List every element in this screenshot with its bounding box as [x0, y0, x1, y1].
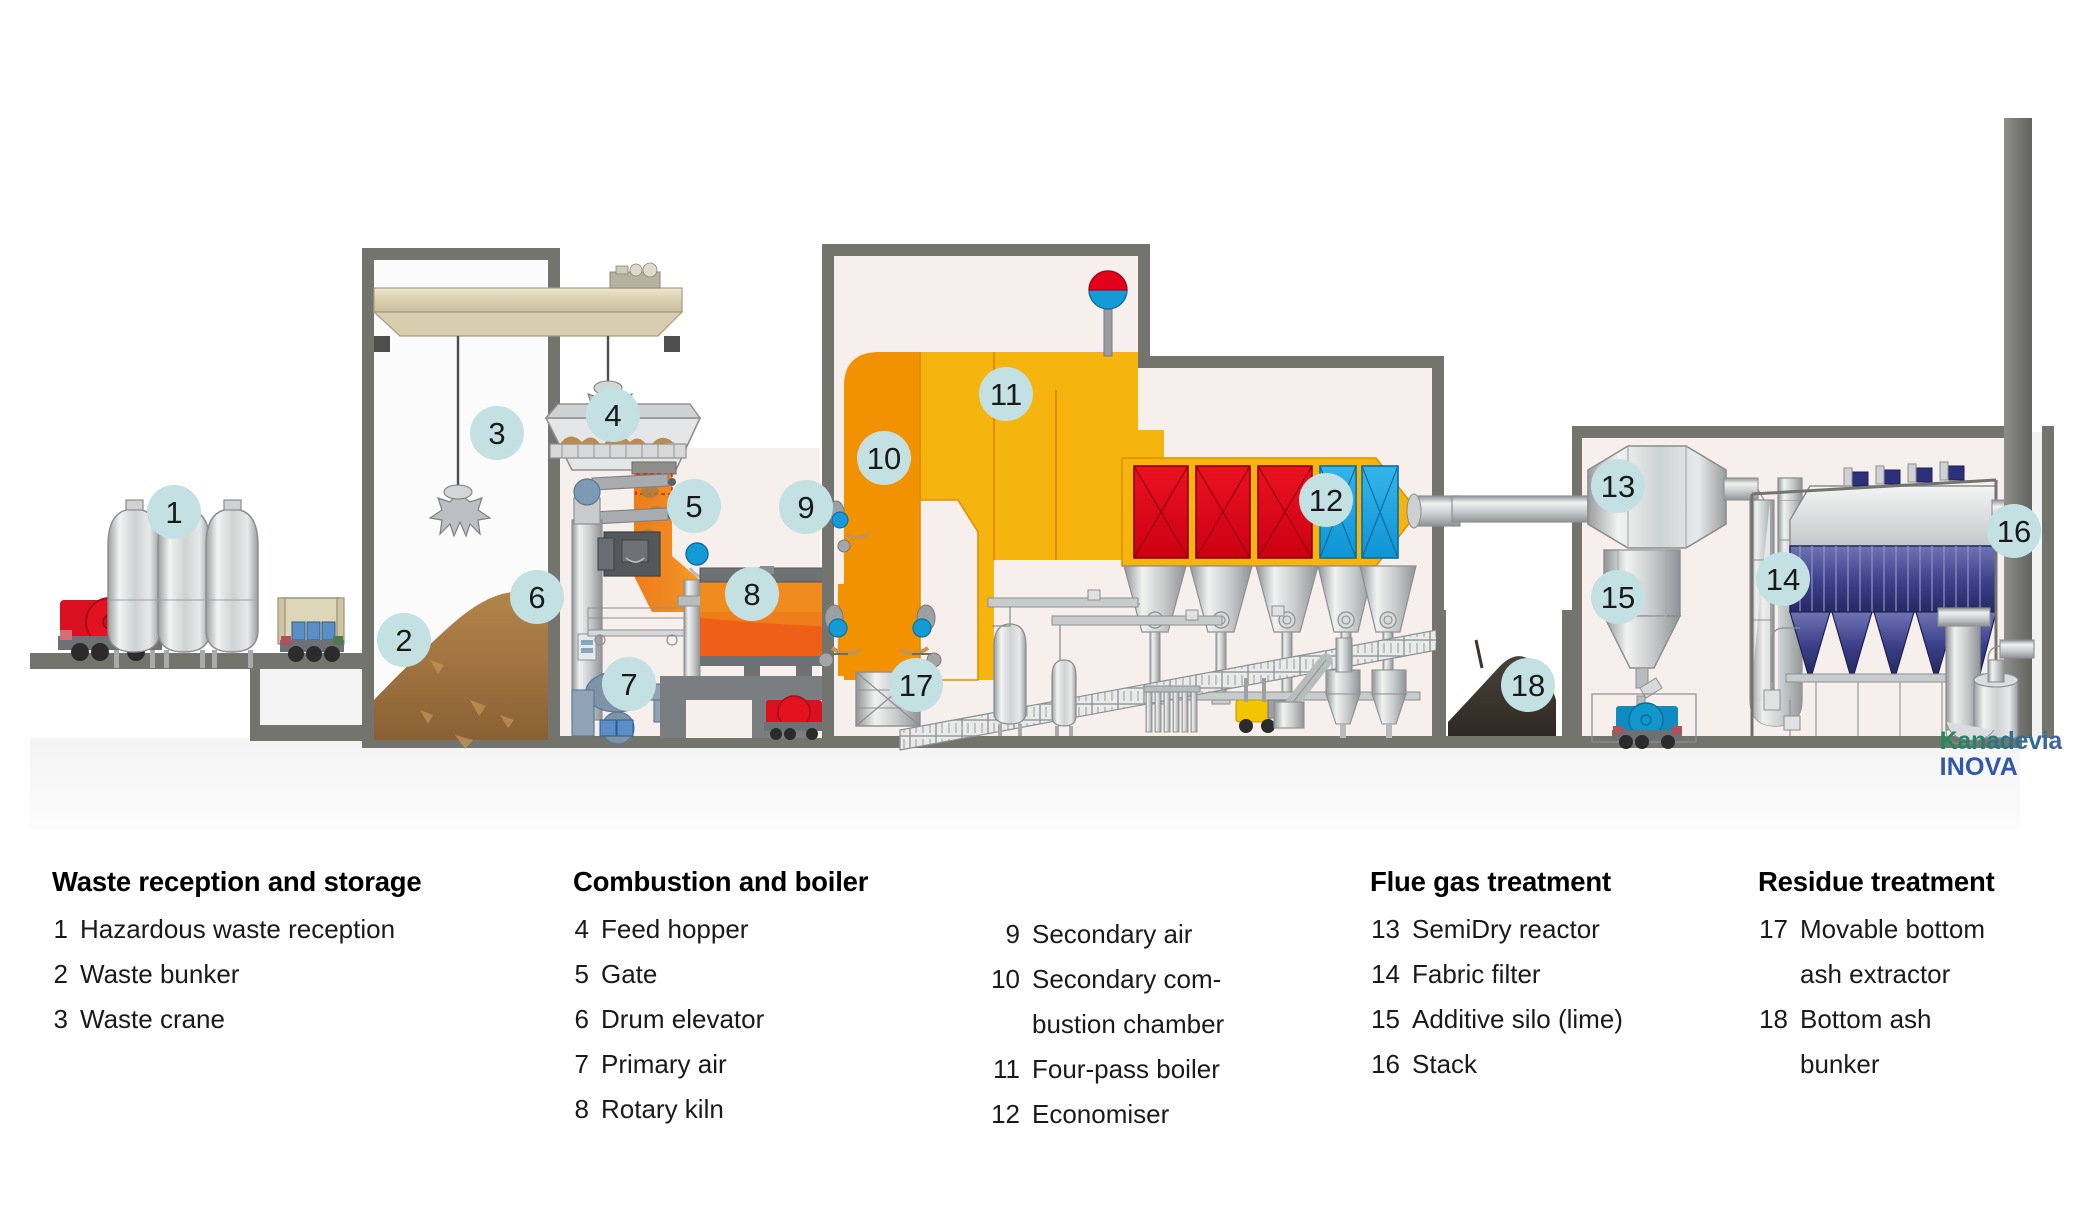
legend-column-waste-reception: Waste reception and storage 1 Hazardous … [52, 866, 422, 1042]
callout-number: 17 [899, 668, 933, 703]
legend-num-7: 7 [573, 1042, 589, 1087]
callout-badge-6[interactable]: 6 [510, 570, 564, 624]
ash-bunker-wall-right [1562, 610, 1572, 736]
legend-item-10: 10 Secondary com- [990, 957, 1224, 1002]
drum-delivery-truck [278, 598, 344, 662]
legend-num-12: 12 [990, 1092, 1020, 1137]
legend-label-18-cont: bunker [1800, 1042, 1880, 1087]
callout-number: 8 [743, 577, 760, 612]
legend-item-2: 2 Waste bunker [52, 952, 422, 997]
plant-schematic-diagram: 123456789101112131415161718 [0, 0, 2100, 830]
legend-label-2: Waste bunker [80, 952, 239, 997]
legend-item-10-cont: bustion chamber [990, 1002, 1224, 1047]
legend-label-10: Secondary com- [1032, 957, 1221, 1002]
callout-number: 12 [1309, 483, 1343, 518]
callout-badge-8[interactable]: 8 [725, 567, 779, 621]
callout-badge-17[interactable]: 17 [889, 658, 943, 712]
page-root: 123456789101112131415161718 Waste recept… [0, 0, 2100, 1213]
callout-number: 14 [1766, 562, 1800, 597]
ash-bunker-wall-left [1436, 610, 1446, 736]
superheater-panels [1134, 466, 1312, 558]
legend-title-residue: Residue treatment [1758, 866, 1995, 898]
callout-badge-10[interactable]: 10 [857, 431, 911, 485]
callout-badge-12[interactable]: 12 [1299, 473, 1353, 527]
callout-number: 6 [528, 580, 545, 615]
legend-item-13: 13 SemiDry reactor [1370, 907, 1623, 952]
legend-label-15: Additive silo (lime) [1412, 997, 1623, 1042]
callout-badge-1[interactable]: 1 [147, 485, 201, 539]
legend-label-5: Gate [601, 952, 657, 997]
storage-tank-3 [206, 500, 258, 668]
logo-line-inova: INOVA [1940, 754, 2062, 780]
callout-number: 3 [488, 416, 505, 451]
callout-number: 5 [685, 489, 702, 524]
legend-column-flue-gas: Flue gas treatment 13 SemiDry reactor 14… [1370, 866, 1623, 1087]
legend-title-waste-reception: Waste reception and storage [52, 866, 422, 898]
legend-title-flue-gas: Flue gas treatment [1370, 866, 1623, 898]
legend-num-2: 2 [52, 952, 68, 997]
legend-num-13: 13 [1370, 907, 1400, 952]
stack-inner-liner [2032, 432, 2042, 738]
legend-label-12: Economiser [1032, 1092, 1169, 1137]
bunker-roof [362, 248, 560, 260]
legend: Waste reception and storage 1 Hazardous … [0, 866, 2100, 1213]
legend-num-11: 11 [990, 1047, 1020, 1092]
basement-truck [764, 696, 824, 740]
crane-trolley [610, 263, 660, 288]
legend-num-3: 3 [52, 997, 68, 1042]
ground-plane [30, 738, 2020, 830]
legend-num-8: 8 [573, 1087, 589, 1132]
legend-num-9: 9 [990, 912, 1020, 957]
callout-badge-16[interactable]: 16 [1987, 504, 2041, 558]
legend-label-6: Drum elevator [601, 997, 764, 1042]
legend-item-17-cont: ash extractor [1758, 952, 1995, 997]
legend-item-14: 14 Fabric filter [1370, 952, 1623, 997]
truck-drums [292, 622, 335, 640]
boiler-lower-hall-roof [1138, 356, 1444, 368]
legend-num-4: 4 [573, 907, 589, 952]
legend-label-1: Hazardous waste reception [80, 907, 395, 952]
legend-label-8: Rotary kiln [601, 1087, 724, 1132]
legend-item-16: 16 Stack [1370, 1042, 1623, 1087]
callout-badge-13[interactable]: 13 [1591, 459, 1645, 513]
legend-item-12: 12 Economiser [990, 1092, 1224, 1137]
callout-badge-5[interactable]: 5 [667, 479, 721, 533]
legend-item-3: 3 Waste crane [52, 997, 422, 1042]
drum-store-wall-left [250, 669, 260, 731]
callout-number: 15 [1601, 580, 1635, 615]
legend-item-5: 5 Gate [573, 952, 868, 997]
legend-num-17: 17 [1758, 907, 1788, 952]
legend-label-16: Stack [1412, 1042, 1477, 1087]
legend-label-18: Bottom ash [1800, 997, 1932, 1042]
legend-item-17: 17 Movable bottom [1758, 907, 1995, 952]
callout-number: 9 [797, 490, 814, 525]
boiler-hall-roof [822, 244, 1150, 256]
legend-item-8: 8 Rotary kiln [573, 1087, 868, 1132]
legend-label-13: SemiDry reactor [1412, 907, 1600, 952]
legend-num-5: 5 [573, 952, 589, 997]
legend-item-1: 1 Hazardous waste reception [52, 907, 422, 952]
callout-number: 16 [1997, 514, 2031, 549]
legend-label-11: Four-pass boiler [1032, 1047, 1220, 1092]
legend-column-residue: Residue treatment 17 Movable bottom ash … [1758, 866, 1995, 1087]
stack-outer-wall [2042, 426, 2054, 738]
legend-label-17-cont: ash extractor [1800, 952, 1950, 997]
callout-badge-9[interactable]: 9 [779, 480, 833, 534]
callout-badge-15[interactable]: 15 [1591, 570, 1645, 624]
callout-number: 1 [165, 495, 182, 530]
callout-number: 18 [1511, 668, 1545, 703]
callout-badge-7[interactable]: 7 [602, 657, 656, 711]
callout-badge-11[interactable]: 11 [979, 367, 1033, 421]
callout-badge-14[interactable]: 14 [1756, 552, 1810, 606]
legend-num-1: 1 [52, 907, 68, 952]
legend-label-17: Movable bottom [1800, 907, 1985, 952]
legend-num-10: 10 [990, 957, 1020, 1002]
legend-item-18-cont: bunker [1758, 1042, 1995, 1087]
logo-line-kanadevia: Kanadevia [1940, 728, 2062, 754]
legend-label-14: Fabric filter [1412, 952, 1541, 997]
callout-number: 2 [395, 623, 412, 658]
legend-column-combustion-boiler: Combustion and boiler 4 Feed hopper 5 Ga… [573, 866, 868, 1132]
legend-item-7: 7 Primary air [573, 1042, 868, 1087]
callout-number: 4 [604, 398, 621, 433]
legend-label-9: Secondary air [1032, 912, 1192, 957]
gate-valve [686, 543, 708, 565]
boiler-hall-wall-right [1138, 250, 1150, 360]
legend-label-4: Feed hopper [601, 907, 748, 952]
bunker-wall-left [362, 248, 374, 748]
fgt-hall-wall-left [1572, 432, 1582, 740]
legend-num-16: 16 [1370, 1042, 1400, 1087]
callout-badge-2[interactable]: 2 [377, 613, 431, 667]
callout-number: 10 [867, 441, 901, 476]
legend-item-6: 6 Drum elevator [573, 997, 868, 1042]
legend-title-combustion-boiler: Combustion and boiler [573, 866, 868, 898]
legend-num-6: 6 [573, 997, 589, 1042]
legend-column-combustion-boiler-2: 9 Secondary air 10 Secondary com- bustio… [990, 912, 1224, 1137]
callout-number: 7 [620, 667, 637, 702]
legend-item-18: 18 Bottom ash [1758, 997, 1995, 1042]
legend-label-7: Primary air [601, 1042, 727, 1087]
callout-number: 13 [1601, 469, 1635, 504]
callout-badge-18[interactable]: 18 [1501, 658, 1555, 712]
legend-item-4: 4 Feed hopper [573, 907, 868, 952]
callout-number: 11 [990, 377, 1022, 412]
legend-num-18: 18 [1758, 997, 1788, 1042]
legend-item-11: 11 Four-pass boiler [990, 1047, 1224, 1092]
legend-label-3: Waste crane [80, 997, 225, 1042]
legend-item-9: 9 Secondary air [990, 912, 1224, 957]
kanadevia-inova-logo: Kanadevia INOVA [1940, 728, 2062, 780]
legend-item-15: 15 Additive silo (lime) [1370, 997, 1623, 1042]
legend-num-15: 15 [1370, 997, 1400, 1042]
callout-badge-4[interactable]: 4 [586, 388, 640, 442]
ash-bunker-floor [1436, 736, 1582, 748]
legend-num-14: 14 [1370, 952, 1400, 997]
callout-badge-3[interactable]: 3 [470, 406, 524, 460]
fgt-hall-roof [1572, 426, 2022, 438]
legend-label-10-cont: bustion chamber [1032, 1002, 1224, 1047]
fgt-inlet-duct [1452, 496, 1588, 522]
